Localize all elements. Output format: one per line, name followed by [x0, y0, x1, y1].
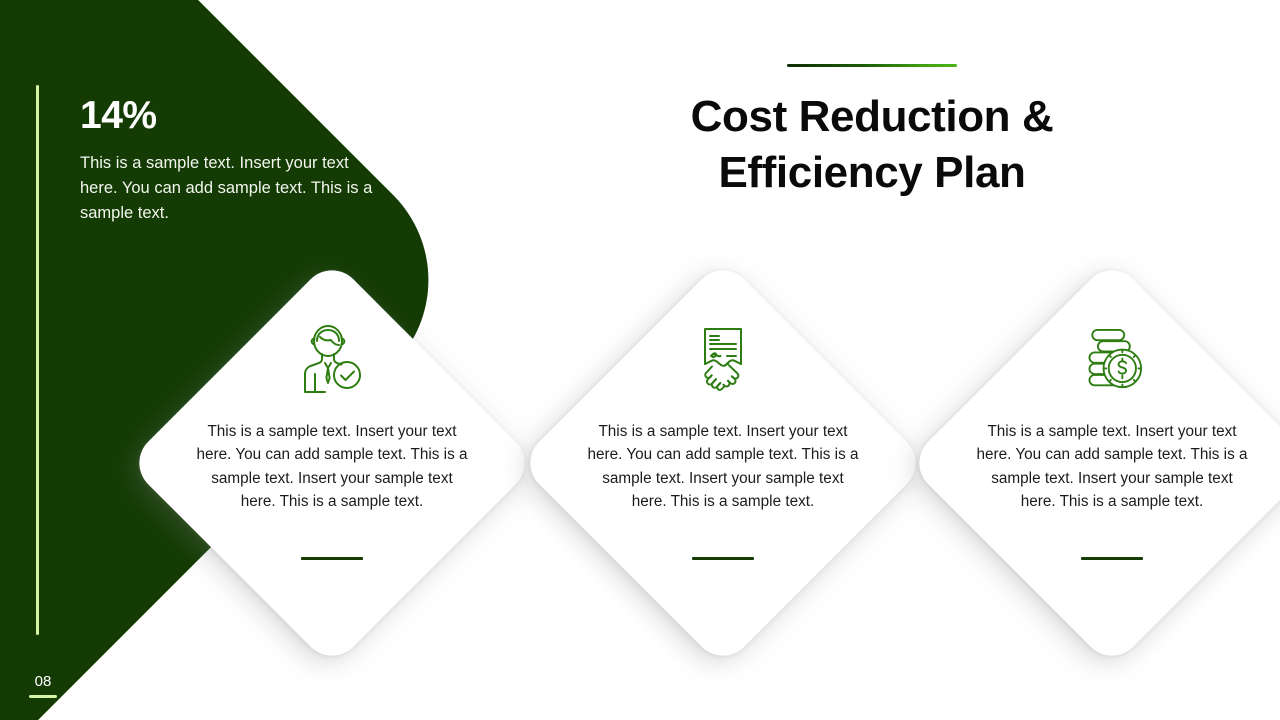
left-vertical-accent-line: [36, 85, 39, 635]
card-content-1: This is a sample text. Insert your text …: [192, 324, 472, 560]
card-text-3: This is a sample text. Insert your text …: [972, 420, 1252, 513]
highlight-paragraph: This is a sample text. Insert your text …: [80, 151, 390, 226]
contract-handshake-icon: [692, 324, 754, 394]
title-block: Cost Reduction & Efficiency Plan: [612, 64, 1132, 202]
presentation-slide: 14% This is a sample text. Insert your t…: [0, 0, 1280, 720]
page-number-group: 08: [29, 673, 57, 698]
card-divider-1: [301, 557, 363, 560]
verified-person-icon: [301, 324, 363, 394]
gradient-accent-bar: [787, 64, 957, 67]
card-content-3: This is a sample text. Insert your text …: [972, 324, 1252, 560]
page-number: 08: [29, 673, 57, 691]
card-divider-3: [1081, 557, 1143, 560]
highlight-stat-block: 14% This is a sample text. Insert your t…: [80, 96, 390, 226]
card-text-1: This is a sample text. Insert your text …: [192, 420, 472, 513]
page-title: Cost Reduction & Efficiency Plan: [612, 89, 1132, 202]
stat-percentage: 14%: [80, 96, 390, 137]
card-content-2: This is a sample text. Insert your text …: [583, 324, 863, 560]
card-divider-2: [692, 557, 754, 560]
card-text-2: This is a sample text. Insert your text …: [583, 420, 863, 513]
page-number-underline: [29, 695, 57, 698]
coin-stack-dollar-icon: [1081, 324, 1143, 394]
